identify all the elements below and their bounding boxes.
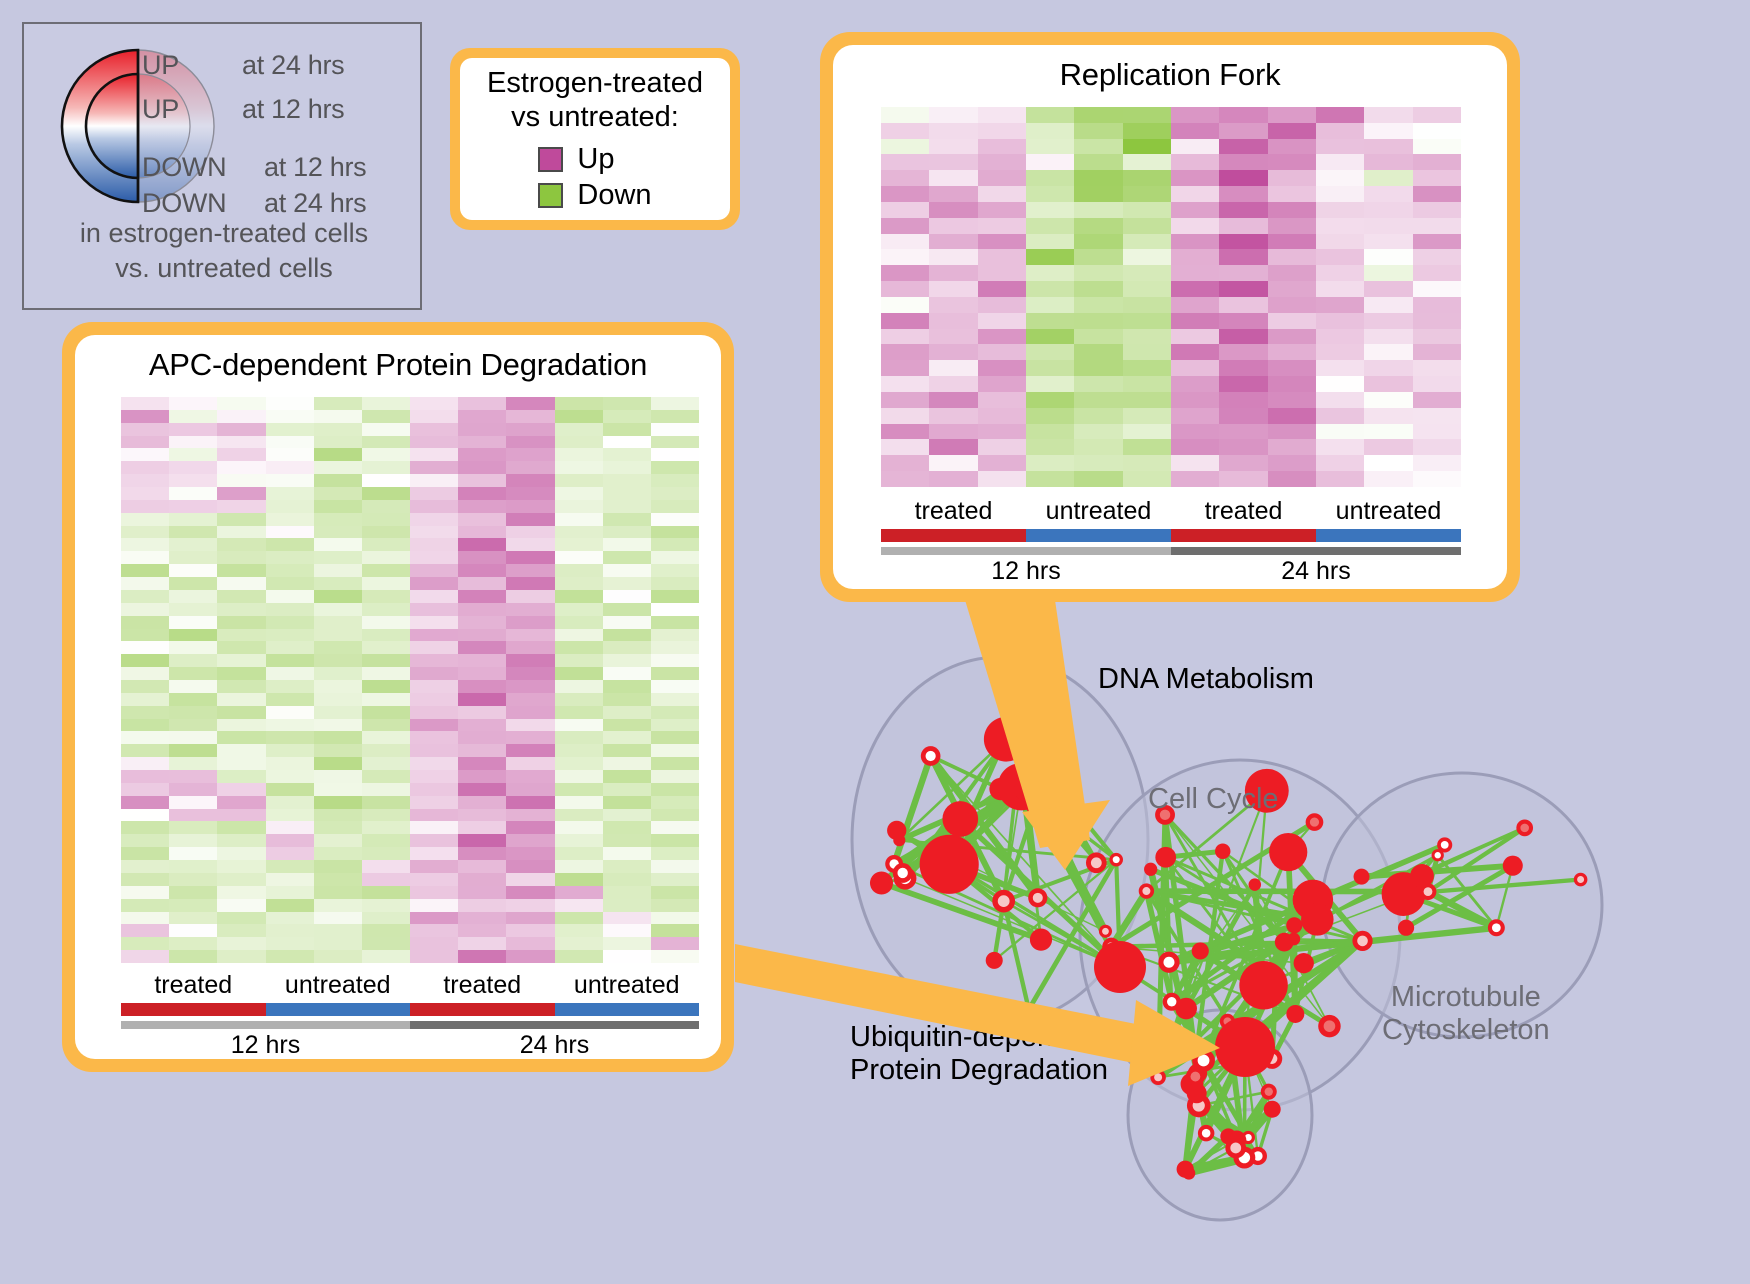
heatmap-cell xyxy=(217,834,265,847)
heatmap-cell xyxy=(1026,107,1074,123)
heatmap-cell xyxy=(266,706,314,719)
heatmap-cell xyxy=(1026,249,1074,265)
heatmap-cell xyxy=(266,809,314,822)
heatmap-cell xyxy=(121,873,169,886)
heatmap-cell xyxy=(1316,265,1364,281)
heatmap-cell xyxy=(1123,139,1171,155)
heatmap-cell xyxy=(1364,297,1412,313)
network-node[interactable] xyxy=(1503,856,1523,876)
heatmap-cell xyxy=(1171,392,1219,408)
heatmap-cell xyxy=(1074,186,1122,202)
heatmap-cell xyxy=(362,924,410,937)
heatmap-cell xyxy=(506,719,554,732)
heatmap-cell xyxy=(217,487,265,500)
heatmap-cell xyxy=(362,590,410,603)
heatmap-cell xyxy=(121,899,169,912)
heatmap-cell xyxy=(1074,344,1122,360)
heatmap-cell xyxy=(506,564,554,577)
heatmap-cell xyxy=(314,513,362,526)
heatmap-cell xyxy=(881,139,929,155)
sample-label-2: treated xyxy=(1171,497,1316,526)
heatmap-cell xyxy=(1316,202,1364,218)
network-node[interactable] xyxy=(1192,942,1209,959)
heatmap-cell xyxy=(929,455,977,471)
heatmap-cell xyxy=(266,448,314,461)
heatmap-cell xyxy=(410,564,458,577)
network-node-core xyxy=(1310,817,1319,826)
heatmap-cell xyxy=(410,770,458,783)
heatmap-cell xyxy=(266,436,314,449)
heatmap-cell xyxy=(555,500,603,513)
wheel-state-3: DOWN xyxy=(142,188,226,219)
heatmap-cell xyxy=(1171,202,1219,218)
timepoint-labels-apc: 12 hrs 24 hrs xyxy=(121,1031,699,1059)
heatmap-cell xyxy=(458,757,506,770)
network-node-core xyxy=(1091,857,1102,868)
heatmap-cell xyxy=(458,641,506,654)
heatmap-cell xyxy=(458,886,506,899)
heatmap-cell xyxy=(458,487,506,500)
heatmap-cell xyxy=(362,538,410,551)
heatmap-cell xyxy=(1268,139,1316,155)
heatmap-cell xyxy=(362,397,410,410)
wheel-time-1: at 12 hrs xyxy=(242,94,344,125)
network-node[interactable] xyxy=(870,871,893,894)
heatmap-cell xyxy=(506,577,554,590)
heatmap-cell xyxy=(506,474,554,487)
heatmap-cell xyxy=(314,770,362,783)
heatmap-cell xyxy=(121,436,169,449)
heatmap-cell xyxy=(266,821,314,834)
heatmap-cell xyxy=(1268,218,1316,234)
heatmap-cell xyxy=(314,809,362,822)
heatmap-cell xyxy=(121,474,169,487)
network-node[interactable] xyxy=(1187,1083,1207,1103)
heatmap-cell xyxy=(1413,455,1461,471)
heatmap-cell xyxy=(978,344,1026,360)
network-node[interactable] xyxy=(1410,864,1434,888)
heatmap-cell xyxy=(458,448,506,461)
heatmap-cell xyxy=(121,834,169,847)
heatmap-cell xyxy=(651,551,699,564)
panel-replication-fork[interactable]: Replication Fork treated untreated treat… xyxy=(820,32,1520,602)
heatmap-cell xyxy=(314,436,362,449)
heatmap-cell xyxy=(458,577,506,590)
heatmap-cell xyxy=(651,436,699,449)
heatmap-cell xyxy=(169,731,217,744)
network-node-core xyxy=(1167,997,1176,1006)
sample-color-bar-repfork xyxy=(881,529,1461,542)
heatmap-cell xyxy=(1268,329,1316,345)
heatmap-cell xyxy=(169,616,217,629)
heatmap-cell xyxy=(169,461,217,474)
heatmap-cell xyxy=(1026,360,1074,376)
timepoint-label-1: 24 hrs xyxy=(410,1031,699,1059)
heatmap-cell xyxy=(1219,218,1267,234)
heatmap-cell xyxy=(1026,313,1074,329)
network-node[interactable] xyxy=(1239,961,1287,1009)
heatmap-cell xyxy=(1268,202,1316,218)
heatmap-cell xyxy=(555,538,603,551)
heatmap-cell xyxy=(881,439,929,455)
heatmap-cell xyxy=(1316,281,1364,297)
heatmap-cell xyxy=(651,731,699,744)
network-node[interactable] xyxy=(1354,869,1370,885)
heatmap-cell xyxy=(217,693,265,706)
wheel-state-1: UP xyxy=(142,94,179,125)
heatmap-cell xyxy=(410,641,458,654)
heatmap-cell xyxy=(121,500,169,513)
timepoint-color-bar-repfork xyxy=(881,547,1461,555)
heatmap-cell xyxy=(603,667,651,680)
heatmap-cell xyxy=(881,281,929,297)
heatmap-cell xyxy=(603,629,651,642)
heatmap-cell xyxy=(1364,344,1412,360)
heatmap-cell xyxy=(266,461,314,474)
heatmap-cell xyxy=(169,821,217,834)
heatmap-cell xyxy=(506,616,554,629)
heatmap-cell xyxy=(314,899,362,912)
network-node[interactable] xyxy=(1144,863,1157,876)
network-node[interactable] xyxy=(1264,1101,1281,1118)
heatmap-cell xyxy=(603,924,651,937)
network-node[interactable] xyxy=(1215,1017,1275,1077)
heatmap-cell xyxy=(410,526,458,539)
network-node[interactable] xyxy=(942,801,978,837)
heatmap-cell xyxy=(1268,249,1316,265)
heatmap-cell xyxy=(1413,424,1461,440)
network-node[interactable] xyxy=(1301,903,1334,936)
heatmap-cell xyxy=(555,821,603,834)
heatmap-cell xyxy=(1123,392,1171,408)
heatmap-cell xyxy=(266,770,314,783)
up-swatch-icon xyxy=(538,147,563,172)
heatmap-cell xyxy=(555,680,603,693)
network-node-core xyxy=(1435,852,1441,858)
heatmap-cell xyxy=(410,809,458,822)
network-node[interactable] xyxy=(1269,833,1307,871)
network-node-core xyxy=(998,895,1010,907)
heatmap-cell xyxy=(169,667,217,680)
heatmap-cell xyxy=(410,500,458,513)
heatmap-cell xyxy=(217,654,265,667)
heatmap-cell xyxy=(410,577,458,590)
timepoint-color-bar-apc xyxy=(121,1021,699,1029)
heatmap-cell xyxy=(121,680,169,693)
heatmap-cell xyxy=(603,590,651,603)
network-node[interactable] xyxy=(887,821,906,840)
heatmap-cell xyxy=(1074,281,1122,297)
heatmap-cell xyxy=(314,757,362,770)
heatmap-cell xyxy=(651,847,699,860)
heatmap-cell xyxy=(362,860,410,873)
heatmap-cell xyxy=(314,744,362,757)
heatmap-cell xyxy=(506,937,554,950)
network-node[interactable] xyxy=(920,835,979,894)
heatmap-cell xyxy=(362,551,410,564)
heatmap-cell xyxy=(1074,329,1122,345)
heatmap-cell xyxy=(506,899,554,912)
heatmap-cell xyxy=(555,513,603,526)
heatmap-cell xyxy=(1413,249,1461,265)
heatmap-cell xyxy=(217,526,265,539)
heatmap-cell xyxy=(881,344,929,360)
heatmap-cell xyxy=(555,834,603,847)
heatmap-cell xyxy=(506,809,554,822)
heatmap-cell xyxy=(1074,297,1122,313)
heatmap-cell xyxy=(1364,360,1412,376)
heatmap-cell xyxy=(266,937,314,950)
heatmap-cell xyxy=(603,912,651,925)
heatmap-cell xyxy=(651,693,699,706)
network-node[interactable] xyxy=(1249,878,1261,890)
heatmap-cell xyxy=(314,680,362,693)
network-node[interactable] xyxy=(1215,844,1230,859)
heatmap-cell xyxy=(555,616,603,629)
heatmap-cell xyxy=(1171,107,1219,123)
heatmap-cell xyxy=(121,526,169,539)
network-node[interactable] xyxy=(984,717,1029,762)
heatmap-cell xyxy=(266,873,314,886)
heatmap-cell xyxy=(978,218,1026,234)
heatmap-cell xyxy=(362,886,410,899)
heatmap-cell xyxy=(651,834,699,847)
sample-bar-2 xyxy=(1171,529,1316,542)
heatmap-cell xyxy=(603,577,651,590)
heatmap-cell xyxy=(1123,376,1171,392)
heatmap-cell xyxy=(881,218,929,234)
network-node[interactable] xyxy=(1177,1161,1194,1178)
heatmap-cell xyxy=(1219,439,1267,455)
heatmap-cell xyxy=(1219,107,1267,123)
heatmap-cell xyxy=(555,796,603,809)
network-node[interactable] xyxy=(1094,941,1146,993)
heatmap-cell xyxy=(217,950,265,963)
heatmap-cell xyxy=(1364,439,1412,455)
heatmap-cell xyxy=(978,139,1026,155)
heatmap-cell xyxy=(1316,376,1364,392)
heatmap-cell xyxy=(555,950,603,963)
updown-legend-card: Estrogen-treated vs untreated: Up Down xyxy=(450,48,740,230)
heatmap-cell xyxy=(458,397,506,410)
heatmap-cell xyxy=(314,616,362,629)
sample-labels-apc: treated untreated treated untreated xyxy=(121,971,699,1000)
heatmap-cell xyxy=(555,461,603,474)
heatmap-cell xyxy=(506,603,554,616)
heatmap-cell xyxy=(217,860,265,873)
heatmap-cell xyxy=(978,107,1026,123)
heatmap-cell xyxy=(1123,297,1171,313)
heatmap-cell xyxy=(506,847,554,860)
heatmap-cell xyxy=(1074,424,1122,440)
network-node-core xyxy=(1492,923,1501,932)
heatmap-cell xyxy=(1123,424,1171,440)
heatmap-cell xyxy=(458,860,506,873)
heatmap-cell xyxy=(217,744,265,757)
heatmap-cell xyxy=(651,912,699,925)
heatmap-cell xyxy=(314,821,362,834)
network-node[interactable] xyxy=(1286,917,1302,933)
heatmap-cell xyxy=(121,950,169,963)
heatmap-cell xyxy=(121,821,169,834)
heatmap-cell xyxy=(410,448,458,461)
heatmap-cell xyxy=(121,912,169,925)
heatmap-cell xyxy=(362,616,410,629)
network-node[interactable] xyxy=(986,952,1003,969)
heatmap-cell xyxy=(121,551,169,564)
network-node-core xyxy=(1142,887,1150,895)
heatmap-cell xyxy=(121,693,169,706)
heatmap-cell xyxy=(1219,202,1267,218)
heatmap-cell xyxy=(603,641,651,654)
network-node[interactable] xyxy=(1294,953,1314,973)
heatmap-cell xyxy=(1364,139,1412,155)
network-node[interactable] xyxy=(1022,1003,1035,1016)
heatmap-cell xyxy=(603,500,651,513)
heatmap-cell xyxy=(169,950,217,963)
heatmap-cell xyxy=(217,757,265,770)
heatmap-cell xyxy=(1026,455,1074,471)
network-node-core xyxy=(926,751,936,761)
sample-label-3: untreated xyxy=(555,971,700,1000)
heatmap-cell xyxy=(169,719,217,732)
network-node-core xyxy=(1113,856,1120,863)
heatmap-cell xyxy=(555,564,603,577)
wheel-time-0: at 24 hrs xyxy=(242,50,344,81)
heatmap-cell xyxy=(458,731,506,744)
heatmap-cell xyxy=(506,410,554,423)
pathway-network-diagram[interactable]: DNA Metabolism Cell Cycle Microtubule Cy… xyxy=(790,615,1750,1279)
heatmap-cell xyxy=(458,500,506,513)
heatmap-cell xyxy=(506,693,554,706)
legend-caption: in estrogen-treated cells vs. untreated … xyxy=(24,216,424,285)
heatmap-cell xyxy=(929,234,977,250)
colorwheel-legend: UP at 24 hrs UP at 12 hrs DOWN at 12 hrs… xyxy=(22,22,422,310)
heatmap-cell xyxy=(169,873,217,886)
heatmap-cell xyxy=(266,513,314,526)
heatmap-cell xyxy=(314,641,362,654)
heatmap-cell xyxy=(651,937,699,950)
heatmap-cell xyxy=(1123,455,1171,471)
heatmap-cell xyxy=(410,436,458,449)
heatmap-cell xyxy=(651,744,699,757)
heatmap-cell xyxy=(555,744,603,757)
heatmap-cell xyxy=(266,847,314,860)
cluster-label-microtubule-cytoskeleton: Microtubule Cytoskeleton xyxy=(1382,981,1550,1047)
heatmap-cell xyxy=(266,667,314,680)
sample-label-1: untreated xyxy=(266,971,411,1000)
heatmap-cell xyxy=(458,436,506,449)
network-svg xyxy=(790,615,1750,1279)
heatmap-cell xyxy=(929,154,977,170)
heatmap-cell xyxy=(929,123,977,139)
heatmap-cell xyxy=(217,590,265,603)
heatmap-cell xyxy=(1364,455,1412,471)
network-node[interactable] xyxy=(1155,847,1176,868)
heatmap-cell xyxy=(266,526,314,539)
heatmap-cell xyxy=(978,392,1026,408)
heatmap-cell xyxy=(1171,471,1219,487)
heatmap-cell xyxy=(1171,218,1219,234)
heatmap-cell xyxy=(362,719,410,732)
heatmap-cell xyxy=(929,281,977,297)
heatmap-cell xyxy=(410,397,458,410)
heatmap-cell xyxy=(555,474,603,487)
network-node-core xyxy=(1324,1020,1336,1032)
wheel-time-2: at 12 hrs xyxy=(264,152,366,183)
heatmap-cell xyxy=(121,641,169,654)
heatmap-cell xyxy=(121,796,169,809)
heatmap-cell xyxy=(881,170,929,186)
heatmap-cell xyxy=(1219,154,1267,170)
heatmap-cell xyxy=(506,860,554,873)
heatmap-cell xyxy=(1364,154,1412,170)
network-node[interactable] xyxy=(1002,724,1014,736)
heatmap-cell xyxy=(651,886,699,899)
heatmap-cell xyxy=(362,603,410,616)
heatmap-cell xyxy=(555,448,603,461)
heatmap-cell xyxy=(881,265,929,281)
heatmap-cell xyxy=(929,186,977,202)
heatmap-cell xyxy=(458,924,506,937)
heatmap-cell xyxy=(266,693,314,706)
heatmap-cell xyxy=(1413,408,1461,424)
heatmap-cell xyxy=(1219,281,1267,297)
heatmap-cell xyxy=(603,538,651,551)
heatmap-cell xyxy=(266,551,314,564)
heatmap-cell xyxy=(410,513,458,526)
heatmap-cell xyxy=(217,886,265,899)
network-node[interactable] xyxy=(1030,928,1052,950)
heatmap-cell xyxy=(1171,234,1219,250)
timepoint-label-1: 24 hrs xyxy=(1171,557,1461,586)
heatmap-cell xyxy=(1171,439,1219,455)
heatmap-cell xyxy=(410,937,458,950)
cluster-label-cell-cycle: Cell Cycle xyxy=(1148,783,1279,816)
network-node[interactable] xyxy=(1275,933,1294,952)
heatmap-cell xyxy=(651,487,699,500)
heatmap-cell xyxy=(603,886,651,899)
heatmap-cell xyxy=(506,744,554,757)
heatmap-cell xyxy=(555,423,603,436)
network-node[interactable] xyxy=(1014,778,1036,800)
heatmap-cell xyxy=(169,847,217,860)
network-node-core xyxy=(1520,824,1529,833)
heatmap-cell xyxy=(555,757,603,770)
heatmap-cell xyxy=(217,513,265,526)
heatmap-cell xyxy=(603,873,651,886)
heatmap-cell xyxy=(362,693,410,706)
heatmap-cell xyxy=(1123,123,1171,139)
heatmap-cell xyxy=(217,564,265,577)
heatmap-cell xyxy=(1364,329,1412,345)
network-node[interactable] xyxy=(1286,1005,1304,1023)
heatmap-cell xyxy=(169,487,217,500)
panel-apc-degradation[interactable]: APC-dependent Protein Degradation treate… xyxy=(62,322,734,1072)
heatmap-cell xyxy=(603,474,651,487)
heatmap-cell xyxy=(1413,329,1461,345)
heatmap-cell xyxy=(506,667,554,680)
heatmap-cell xyxy=(266,629,314,642)
heatmap-cell xyxy=(217,629,265,642)
network-node[interactable] xyxy=(1398,920,1414,936)
heatmap-cell xyxy=(458,680,506,693)
heatmap-cell xyxy=(603,654,651,667)
heatmap-cell xyxy=(1026,439,1074,455)
heatmap-cell xyxy=(1219,170,1267,186)
heatmap-cell xyxy=(314,860,362,873)
heatmap-cell xyxy=(458,912,506,925)
